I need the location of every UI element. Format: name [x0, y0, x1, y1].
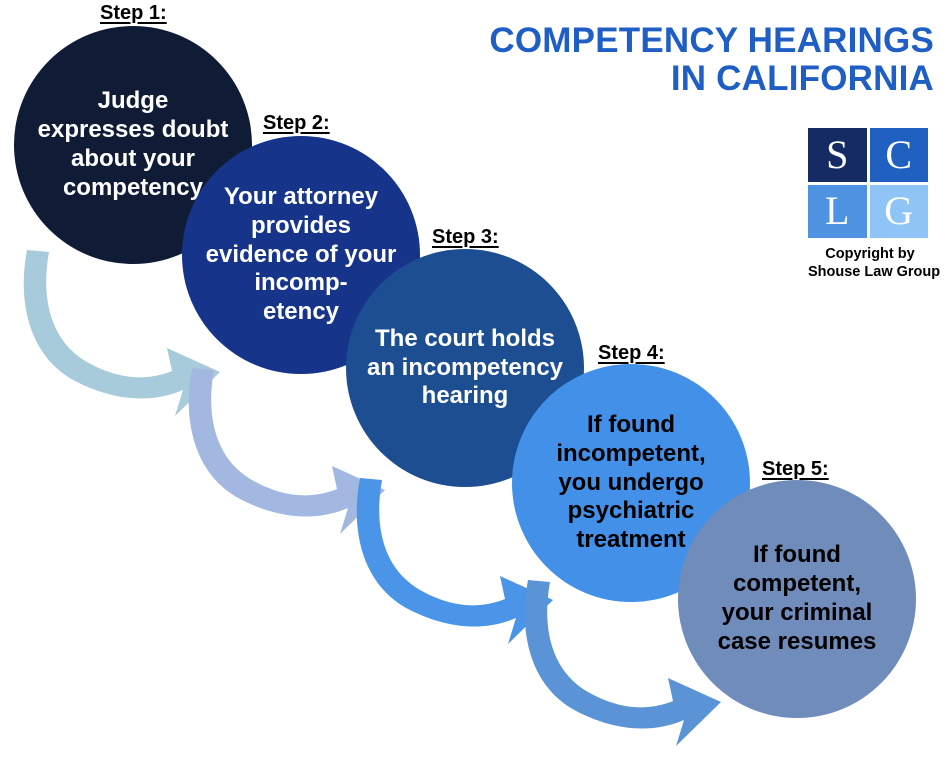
step-circle-5: If found competent, your criminal case r… [678, 480, 916, 718]
copyright-notice: Copyright by Shouse Law Group [808, 245, 932, 281]
logo-cell-l: L [808, 185, 867, 239]
copyright-line-1: Copyright by [808, 245, 932, 263]
infographic-canvas: COMPETENCY HEARINGS IN CALIFORNIA S C L … [0, 0, 952, 764]
logo-cell-c: C [870, 128, 929, 182]
title-line-1: COMPETENCY HEARINGS [374, 22, 934, 60]
step-label-2: Step 2: [263, 112, 330, 135]
shouse-law-group-logo: S C L G Copyright by Shouse Law Group [808, 128, 932, 281]
step-text-3: The court holds an incompetency hearing [361, 325, 569, 411]
logo-cell-g: G [870, 185, 929, 239]
copyright-line-2: Shouse Law Group [808, 263, 932, 281]
step-label-5: Step 5: [762, 458, 829, 481]
step-label-1: Step 1: [100, 2, 167, 25]
step-label-4: Step 4: [598, 342, 665, 365]
title-line-2: IN CALIFORNIA [374, 60, 934, 98]
step-text-5: If found competent, your criminal case r… [712, 541, 883, 656]
logo-cell-s: S [808, 128, 867, 182]
page-title: COMPETENCY HEARINGS IN CALIFORNIA [374, 22, 934, 98]
step-label-3: Step 3: [432, 226, 499, 249]
logo-grid: S C L G [808, 128, 928, 238]
step-text-4: If found incompetent, you undergo psychi… [550, 411, 711, 555]
